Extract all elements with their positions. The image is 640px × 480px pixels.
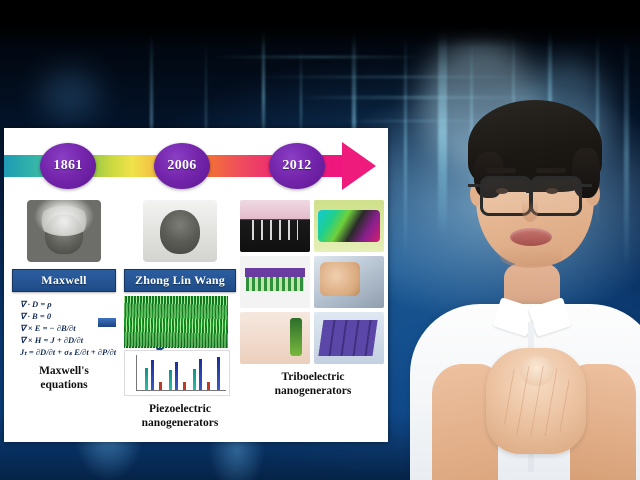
presenter-mouth: [510, 228, 552, 246]
equation-line: Jₜ = ∂D/∂t + σₛ E/∂t + ∂P/∂t: [20, 346, 116, 358]
voltage-signal-plot-image: [124, 350, 230, 396]
column-maxwell: Maxwell ∇ · D = ρ ∇ · B = 0 ∇ × E = − ∂B…: [12, 200, 116, 392]
piezoelectric-caption: Piezoelectric nanogenerators: [124, 402, 236, 430]
triboelectric-image-grid: [240, 200, 386, 364]
equation-line: ∇ · D = ρ: [20, 298, 116, 310]
caption-line-1: Triboelectric: [240, 370, 386, 384]
column-piezoelectric: Zhong Lin Wang Piezoelectric nanogenerat…: [124, 200, 236, 430]
timeline-node-2006: 2006: [154, 143, 210, 189]
glasses-temple-right-icon: [576, 184, 592, 187]
column-triboelectric: Triboelectric nanogenerators: [240, 200, 386, 398]
slide-panel: 1861 2006 2012 Maxwell ∇ · D = ρ ∇ · B =…: [4, 128, 388, 442]
glasses-temple-left-icon: [468, 184, 482, 187]
timeline-arrowhead-icon: [342, 142, 376, 190]
triboelectric-caption: Triboelectric nanogenerators: [240, 370, 386, 398]
maxwell-portrait-image: [27, 200, 101, 262]
nanowire-array-image: [124, 296, 228, 348]
timeline-node-2012: 2012: [269, 143, 325, 189]
caption-line-2: nanogenerators: [240, 384, 386, 398]
caption-line-1: Piezoelectric: [124, 402, 236, 416]
letterbox-fade: [0, 26, 640, 48]
presenter-clasped-hands: [486, 348, 586, 454]
maxwell-caption: Maxwell's equations: [12, 364, 116, 392]
timeline-year-label: 2012: [282, 158, 311, 174]
tribo-tile-1: [240, 200, 310, 252]
timeline-year-label: 1861: [53, 158, 82, 174]
maxwell-equations-block: ∇ · D = ρ ∇ · B = 0 ∇ × E = − ∂B/∂t ∇ × …: [12, 298, 116, 358]
tribo-tile-6: [314, 312, 384, 364]
zhong-lin-wang-name-plate: Zhong Lin Wang: [124, 269, 236, 292]
tribo-tile-2: [314, 200, 384, 252]
maxwell-name-plate: Maxwell: [12, 269, 116, 292]
blue-arrow-icon: [98, 318, 116, 327]
timeline-node-1861: 1861: [40, 143, 96, 189]
equation-line: ∇ × H = J + ∂D/∂t: [20, 334, 116, 346]
presenter-figure: [418, 96, 640, 480]
caption-line-2: equations: [12, 378, 116, 392]
video-frame: 1861 2006 2012 Maxwell ∇ · D = ρ ∇ · B =…: [0, 0, 640, 480]
presenter-nose: [522, 200, 538, 222]
tribo-tile-3: [240, 256, 310, 308]
caption-line-2: nanogenerators: [124, 416, 236, 430]
glasses-bridge-icon: [526, 190, 532, 193]
tribo-tile-4: [314, 256, 384, 308]
presenter-eyebrow-right: [536, 168, 566, 173]
caption-line-1: Maxwell's: [12, 364, 116, 378]
zhong-lin-wang-portrait-image: [143, 200, 217, 262]
presenter-chin: [500, 246, 562, 268]
tribo-tile-5: [240, 312, 310, 364]
timeline-year-label: 2006: [167, 158, 196, 174]
letterbox-top-bar: [0, 0, 640, 26]
presenter-eyebrow-left: [486, 168, 516, 173]
